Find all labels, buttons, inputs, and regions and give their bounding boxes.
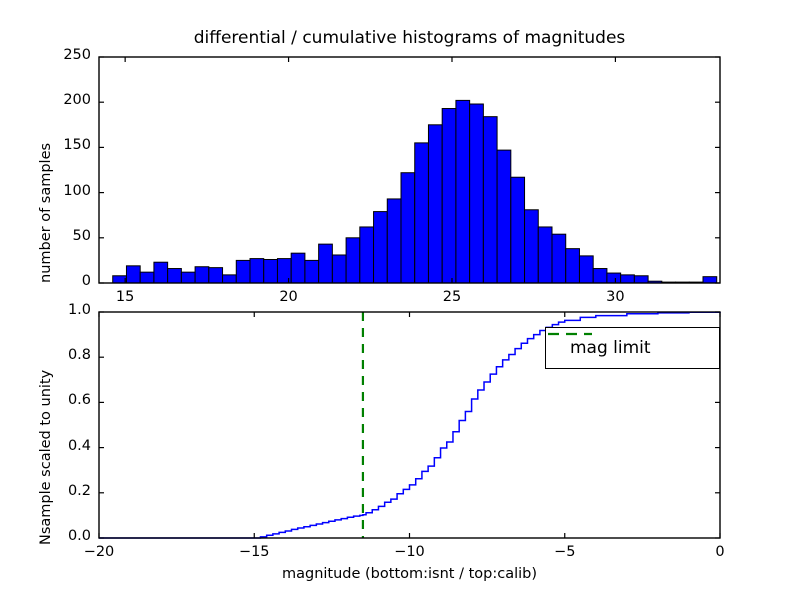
x-tick-label: −10 [370,544,450,560]
y-tick-label: 0.6 [3,392,91,408]
y-tick-label: 0.0 [3,528,91,544]
figure-canvas: differential / cumulative histograms of … [0,0,800,600]
x-tick-label: −5 [525,544,605,560]
legend-label-mag-limit: mag limit [570,338,651,358]
x-tick-label: 0 [680,544,760,560]
legend: mag limit [545,327,720,369]
bottom-plot-svg [0,0,800,600]
legend-dashed-line-icon [546,328,594,340]
y-tick-label: 0.2 [3,483,91,499]
y-tick-label: 1.0 [3,302,91,318]
x-tick-label: −15 [214,544,294,560]
y-tick-label: 0.8 [3,347,91,363]
x-tick-label: −20 [59,544,139,560]
y-tick-label: 0.4 [3,438,91,454]
